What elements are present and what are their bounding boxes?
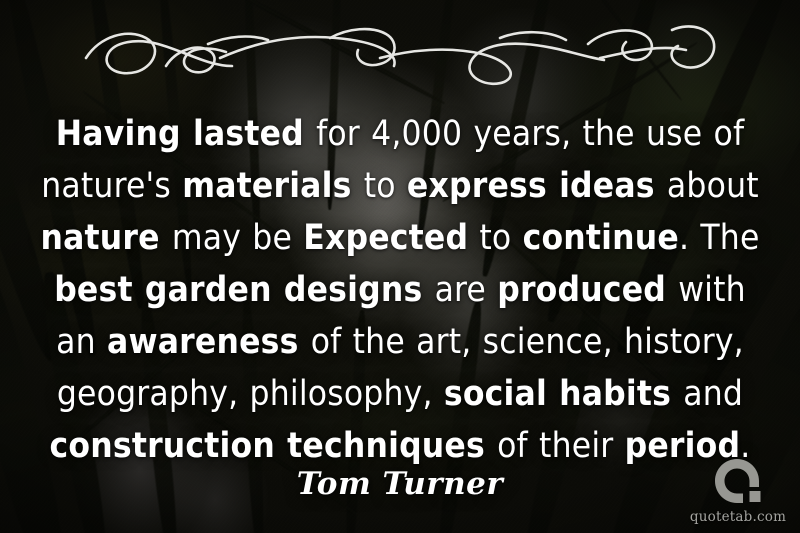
quote-word-segment: philosophy, xyxy=(250,374,444,414)
quote-word-segment: . The xyxy=(679,218,760,258)
quote-word-segment: awareness xyxy=(107,322,311,362)
quote-word-segment: to xyxy=(479,218,522,258)
quote-word-segment: techniques xyxy=(287,426,497,466)
quote-word-segment: are xyxy=(435,270,498,310)
quote-card: Having lasted for 4,000 years, the use o… xyxy=(0,0,800,533)
quote-word-segment: materials xyxy=(182,166,364,206)
quote-word-segment: Expected xyxy=(303,218,468,258)
quote-word-segment: their xyxy=(539,426,625,466)
quote-word-segment: produced xyxy=(497,270,678,310)
quote-word-segment: best xyxy=(54,270,145,310)
quote-word-segment: to xyxy=(364,166,407,206)
quote-word-segment: of xyxy=(497,426,528,466)
quotetab-logo-icon[interactable] xyxy=(713,457,763,507)
quote-word-segment: garden xyxy=(145,270,284,310)
quote-word-segment: lasted xyxy=(193,114,316,154)
quote-word-segment: express xyxy=(407,166,559,206)
quote-text: Having lasted for 4,000 years, the use o… xyxy=(36,108,764,472)
quote-word-segment: and xyxy=(683,374,743,414)
quote-word-segment: habits xyxy=(559,374,683,414)
quote-word-segment: ideas xyxy=(559,166,667,206)
quote-author: Tom Turner xyxy=(0,466,800,502)
quote-word-segment: Having xyxy=(56,114,193,154)
card-content: Having lasted for 4,000 years, the use o… xyxy=(0,0,800,533)
quote-word-segment: may be xyxy=(172,218,303,258)
quote-word-segment: continue xyxy=(523,218,679,258)
site-watermark[interactable]: quotetab.com xyxy=(690,457,786,525)
flourish-ornament-icon xyxy=(80,14,720,86)
quote-word-segment: construction xyxy=(50,426,288,466)
watermark-label[interactable]: quotetab.com xyxy=(690,509,786,525)
quote-word-segment: about xyxy=(667,166,759,206)
quote-word-segment: social xyxy=(444,374,559,414)
quote-word-segment: designs xyxy=(284,270,435,310)
quote-word-segment: nature xyxy=(40,218,171,258)
